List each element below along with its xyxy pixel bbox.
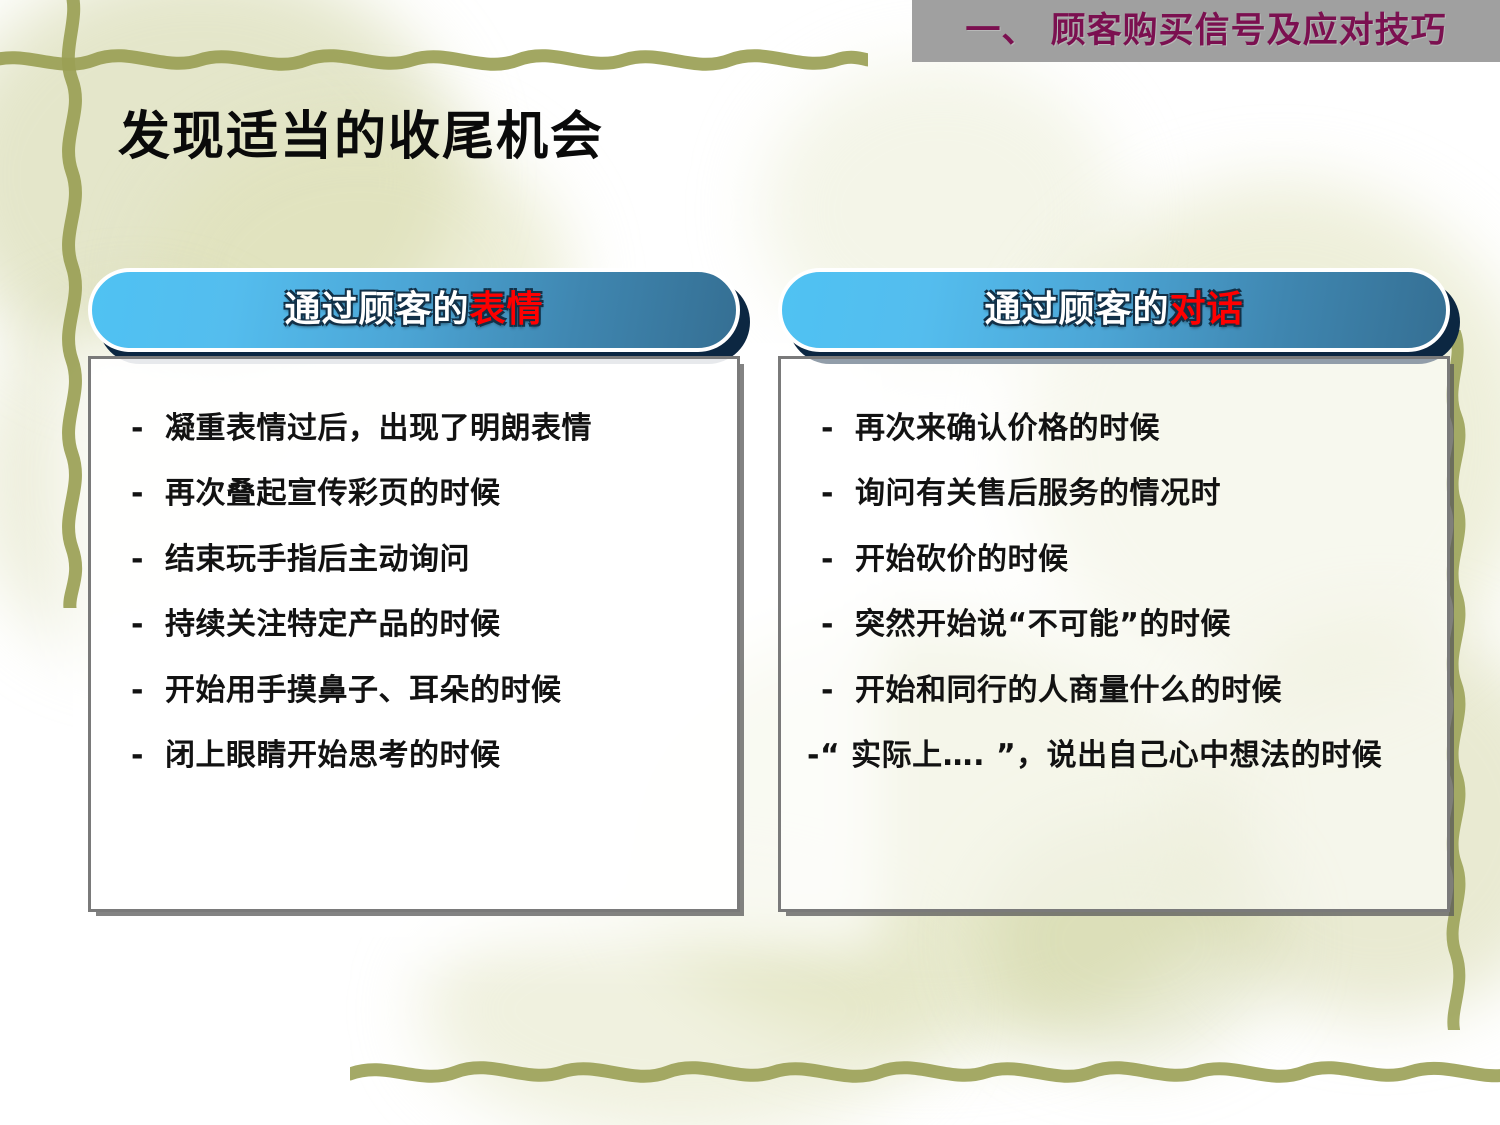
bullet-marker: - <box>131 673 165 708</box>
bullet-text: 再次叠起宣传彩页的时候 <box>165 476 721 511</box>
pill-expression[interactable]: 通过顾客的表情 <box>88 268 740 352</box>
bullet-list-expression: - 凝重表情过后，出现了明朗表情 - 再次叠起宣传彩页的时候 - 结束玩手指后主… <box>107 411 721 773</box>
list-item: - 询问有关售后服务的情况时 <box>797 476 1431 511</box>
bullet-text: 持续关注特定产品的时候 <box>165 607 721 642</box>
page-title: 发现适当的收尾机会 <box>118 108 604 166</box>
bullet-marker: - <box>131 476 165 511</box>
bullet-marker: - <box>821 542 855 577</box>
list-item: - 凝重表情过后，出现了明朗表情 <box>107 411 721 446</box>
pill-label-prefix: 通过顾客的 <box>284 289 469 330</box>
bamboo-ribbon-vertical-left-icon <box>52 0 92 608</box>
section-banner: 一、 顾客购买信号及应对技巧 <box>912 0 1500 62</box>
bullet-text: 开始砍价的时候 <box>855 542 1431 577</box>
bamboo-ribbon-horizontal-top-icon <box>0 40 868 80</box>
pill-dialogue[interactable]: 通过顾客的对话 <box>778 268 1450 352</box>
bullet-text: 询问有关售后服务的情况时 <box>855 476 1431 511</box>
bullet-text: 开始和同行的人商量什么的时候 <box>855 673 1431 708</box>
bullet-text: 凝重表情过后，出现了明朗表情 <box>165 411 721 446</box>
list-item: - 突然开始说“不可能”的时候 <box>797 607 1431 642</box>
list-item: - 再次来确认价格的时候 <box>797 411 1431 446</box>
content-box-expression: - 凝重表情过后，出现了明朗表情 - 再次叠起宣传彩页的时候 - 结束玩手指后主… <box>88 356 740 912</box>
list-item: - 再次叠起宣传彩页的时候 <box>107 476 721 511</box>
bullet-marker: - <box>821 411 855 446</box>
list-item: - 开始砍价的时候 <box>797 542 1431 577</box>
bullet-marker: - <box>821 476 855 511</box>
pill-label-prefix: 通过顾客的 <box>984 289 1169 330</box>
bamboo-ribbon-horizontal-bottom-icon <box>350 1052 1500 1092</box>
bullet-text: 结束玩手指后主动询问 <box>165 542 721 577</box>
pill-label-highlight: 表情 <box>470 289 544 330</box>
pill-label-highlight: 对话 <box>1170 289 1244 330</box>
bullet-marker: - <box>821 607 855 642</box>
section-banner-text: 一、 顾客购买信号及应对技巧 <box>965 14 1446 49</box>
slide-canvas: 一、 顾客购买信号及应对技巧 发现适当的收尾机会 通过顾客的表情 - 凝重表情过… <box>0 0 1500 1125</box>
list-item: - 开始和同行的人商量什么的时候 <box>797 673 1431 708</box>
bullet-marker: - <box>821 673 855 708</box>
pill-label-expression: 通过顾客的表情 <box>284 292 543 328</box>
bullet-marker: - <box>131 607 165 642</box>
column-expression: 通过顾客的表情 - 凝重表情过后，出现了明朗表情 - 再次叠起宣传彩页的时候 -… <box>88 268 740 912</box>
bullet-list-dialogue: - 再次来确认价格的时候 - 询问有关售后服务的情况时 - 开始砍价的时候 - … <box>797 411 1431 773</box>
bullet-marker: - <box>131 542 165 577</box>
bullet-text: 突然开始说“不可能”的时候 <box>855 607 1431 642</box>
bullet-marker: - <box>131 738 165 773</box>
list-item: - 持续关注特定产品的时候 <box>107 607 721 642</box>
column-header-expression[interactable]: 通过顾客的表情 <box>88 268 740 368</box>
bullet-text: 再次来确认价格的时候 <box>855 411 1431 446</box>
pill-label-dialogue: 通过顾客的对话 <box>984 292 1243 328</box>
column-dialogue: 通过顾客的对话 - 再次来确认价格的时候 - 询问有关售后服务的情况时 - 开始… <box>778 268 1450 912</box>
bullet-text: 开始用手摸鼻子、耳朵的时候 <box>165 673 721 708</box>
list-item-wrapped: -“ 实际上…. ”，说出自己心中想法的时候 <box>797 738 1431 773</box>
bullet-text: 闭上眼睛开始思考的时候 <box>165 738 721 773</box>
list-item: - 开始用手摸鼻子、耳朵的时候 <box>107 673 721 708</box>
list-item: - 结束玩手指后主动询问 <box>107 542 721 577</box>
content-box-dialogue: - 再次来确认价格的时候 - 询问有关售后服务的情况时 - 开始砍价的时候 - … <box>778 356 1450 912</box>
column-header-dialogue[interactable]: 通过顾客的对话 <box>778 268 1450 368</box>
list-item: - 闭上眼睛开始思考的时候 <box>107 738 721 773</box>
bullet-marker: - <box>131 411 165 446</box>
